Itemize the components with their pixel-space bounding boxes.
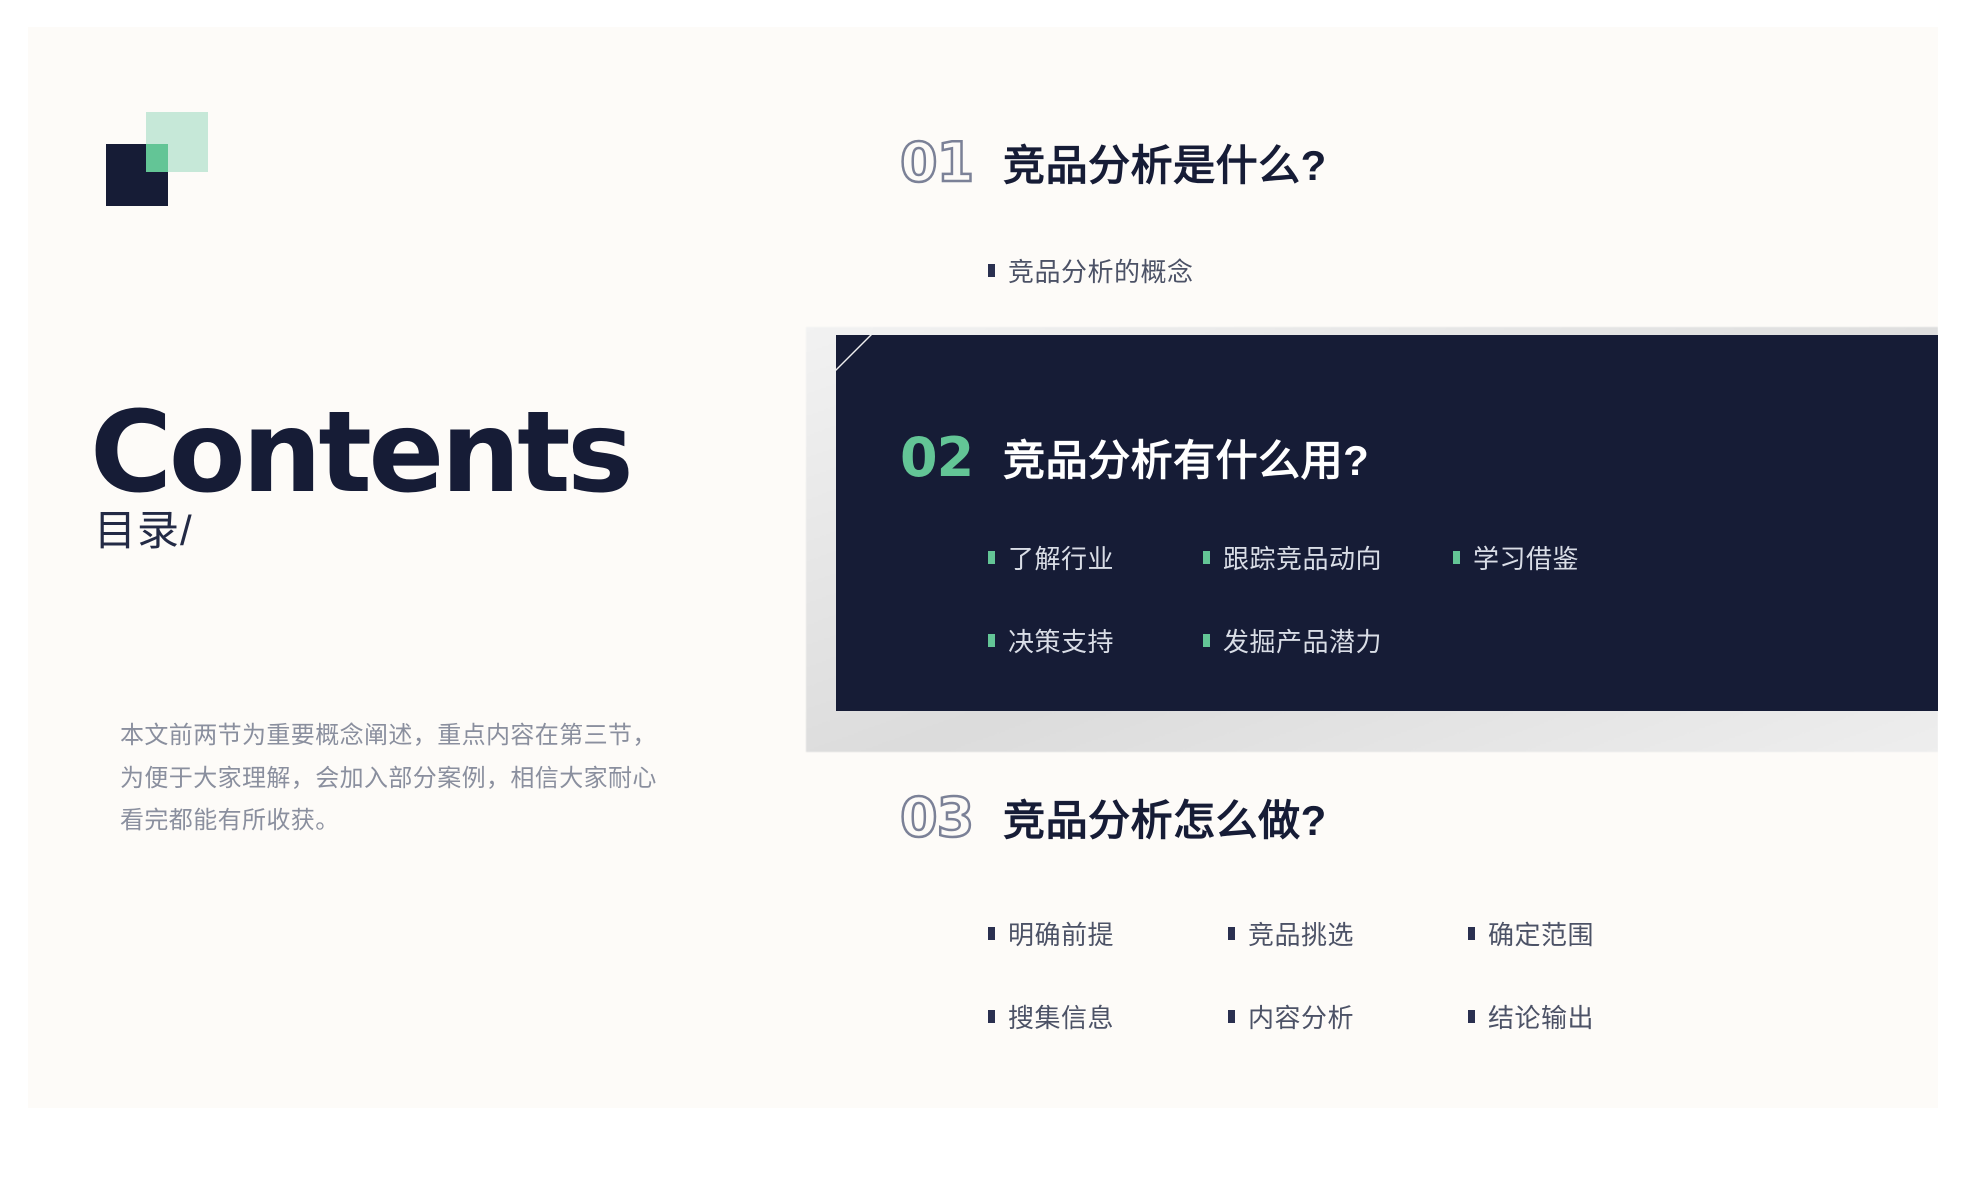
section-list: 01 竞品分析是什么? 竞品分析的概念 02 竞品分析有什么用? 了解行业 跟踪… <box>28 27 1938 1108</box>
list-item[interactable]: 结论输出 <box>1468 998 1594 1035</box>
list-item-label: 搜集信息 <box>1008 998 1114 1035</box>
section-header-02[interactable]: 02 竞品分析有什么用? <box>900 427 1369 488</box>
bullet-square-icon <box>1468 927 1475 940</box>
slide-canvas: Contents 目录/ 本文前两节为重要概念阐述，重点内容在第三节，为便于大家… <box>28 27 1938 1108</box>
list-item[interactable]: 竞品挑选 <box>1228 915 1468 952</box>
list-item-label: 竞品挑选 <box>1248 915 1354 952</box>
section-01-bullet-row-1: 竞品分析的概念 <box>988 252 1228 289</box>
list-item[interactable]: 确定范围 <box>1468 915 1594 952</box>
bullet-square-icon <box>988 927 995 940</box>
bullet-square-icon <box>1203 551 1210 564</box>
section-02-bullet-row-2: 决策支持 发掘产品潜力 <box>988 622 1382 659</box>
list-item[interactable]: 学习借鉴 <box>1453 539 1579 576</box>
bullet-square-icon <box>988 551 995 564</box>
section-header-01[interactable]: 01 竞品分析是什么? <box>900 132 1327 193</box>
list-item[interactable]: 搜集信息 <box>988 998 1228 1035</box>
bullet-square-icon <box>988 634 995 647</box>
list-item-label: 确定范围 <box>1488 915 1594 952</box>
list-item-label: 明确前提 <box>1008 915 1114 952</box>
bullet-square-icon <box>988 264 995 277</box>
list-item-label: 了解行业 <box>1008 539 1114 576</box>
section-title-02: 竞品分析有什么用? <box>1003 427 1369 488</box>
list-item-label: 决策支持 <box>1008 622 1114 659</box>
list-item[interactable]: 竞品分析的概念 <box>988 252 1228 289</box>
list-item[interactable]: 决策支持 <box>988 622 1203 659</box>
bullet-square-icon <box>1228 927 1235 940</box>
list-item[interactable]: 明确前提 <box>988 915 1228 952</box>
section-title-03: 竞品分析怎么做? <box>1003 787 1327 848</box>
list-item-label: 内容分析 <box>1248 998 1354 1035</box>
section-02-bullet-row-1: 了解行业 跟踪竞品动向 学习借鉴 <box>988 539 1579 576</box>
section-header-03[interactable]: 03 竞品分析怎么做? <box>900 787 1327 848</box>
section-number-02: 02 <box>900 431 973 485</box>
bullet-square-icon <box>988 1010 995 1023</box>
list-item[interactable]: 了解行业 <box>988 539 1203 576</box>
section-03-bullet-row-2: 搜集信息 内容分析 结论输出 <box>988 998 1594 1035</box>
list-item-label: 结论输出 <box>1488 998 1594 1035</box>
list-item-label: 发掘产品潜力 <box>1223 622 1382 659</box>
list-item-label: 学习借鉴 <box>1473 539 1579 576</box>
bullet-square-icon <box>1228 1010 1235 1023</box>
section-number-03: 03 <box>900 791 973 845</box>
section-03-bullet-row-1: 明确前提 竞品挑选 确定范围 <box>988 915 1594 952</box>
bullet-square-icon <box>1468 1010 1475 1023</box>
list-item[interactable]: 发掘产品潜力 <box>1203 622 1382 659</box>
list-item[interactable]: 跟踪竞品动向 <box>1203 539 1453 576</box>
list-item-label: 跟踪竞品动向 <box>1223 539 1382 576</box>
bullet-square-icon <box>1453 551 1460 564</box>
section-number-01: 01 <box>900 136 973 190</box>
bullet-square-icon <box>1203 634 1210 647</box>
section-title-01: 竞品分析是什么? <box>1003 132 1327 193</box>
list-item-label: 竞品分析的概念 <box>1008 252 1194 289</box>
list-item[interactable]: 内容分析 <box>1228 998 1468 1035</box>
